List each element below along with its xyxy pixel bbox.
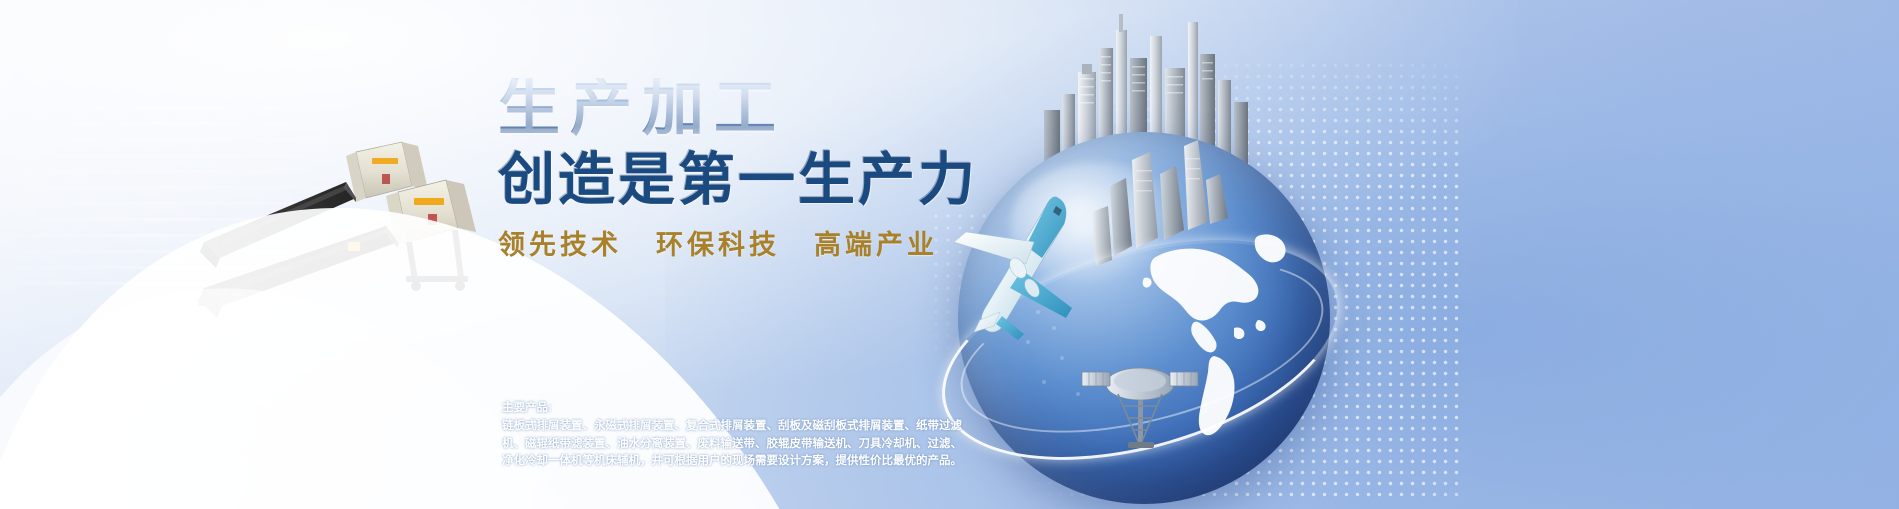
globe-graphic (930, 6, 1350, 509)
headline-sub: 创造是第一生产力 (498, 152, 968, 209)
headline-main: 生产加工 (498, 78, 968, 140)
tagline-row: 领先技术 环保科技 高端产业 (498, 223, 968, 262)
product-description: 主要产品: 链板式排屑装置、永磁式排屑装置、复合式排屑装置、刮板及磁刮板式排屑装… (502, 400, 970, 471)
tagline-item-1: 领先技术 (498, 223, 622, 262)
product-description-body: 链板式排屑装置、永磁式排屑装置、复合式排屑装置、刮板及磁刮板式排屑装置、纸带过滤… (502, 418, 970, 471)
tagline-item-3: 高端产业 (814, 223, 938, 262)
chip-conveyor-machines-graphic (160, 130, 490, 320)
tagline-item-2: 环保科技 (656, 223, 780, 262)
promotional-banner: 生产加工 创造是第一生产力 领先技术 环保科技 高端产业 主要产品: 链板式排屑… (0, 0, 1899, 509)
product-description-label: 主要产品: (502, 400, 970, 418)
headline-group: 生产加工 创造是第一生产力 领先技术 环保科技 高端产业 (498, 78, 968, 262)
satellite-graphic (1078, 336, 1208, 456)
